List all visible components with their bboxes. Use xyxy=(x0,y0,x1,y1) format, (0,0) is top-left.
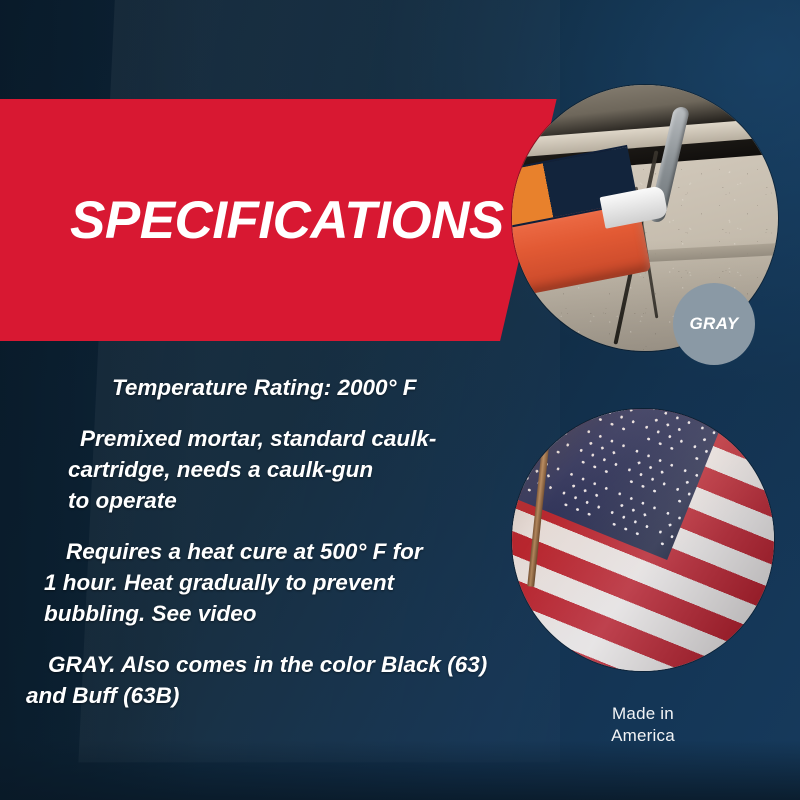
flag-body xyxy=(512,409,774,671)
spec-line: bubbling. See video xyxy=(50,598,520,629)
background-bottom-fade xyxy=(0,740,800,800)
spec-line: cartridge, needs a caulk-gun xyxy=(80,454,520,485)
spec-line: to operate xyxy=(80,485,520,516)
flag-shading xyxy=(512,409,774,671)
color-badge-label: GRAY xyxy=(689,314,738,334)
color-badge-gray: GRAY xyxy=(673,283,755,365)
caption-line: Made in xyxy=(563,703,723,725)
specifications-list: Temperature Rating: 2000° F Premixed mor… xyxy=(0,372,520,711)
page-title: SPECIFICATIONS xyxy=(70,194,504,247)
spec-line: GRAY. Also comes in the color Black (63) xyxy=(50,649,520,680)
caption-line: America xyxy=(563,725,723,747)
spec-color-options: GRAY. Also comes in the color Black (63)… xyxy=(0,649,520,711)
spec-line: Temperature Rating: 2000° F xyxy=(112,372,520,403)
specifications-banner: SPECIFICATIONS xyxy=(0,99,560,341)
made-in-america-caption: Made in America xyxy=(563,703,723,747)
spec-premixed-mortar: Premixed mortar, standard caulk- cartrid… xyxy=(0,423,520,516)
spec-line: Premixed mortar, standard caulk- xyxy=(92,423,520,454)
spec-line: and Buff (63B) xyxy=(28,680,520,711)
american-flag-photo xyxy=(512,409,774,671)
spec-line: 1 hour. Heat gradually to prevent xyxy=(50,567,520,598)
infographic-canvas: SPECIFICATIONS GRAY Tempera xyxy=(0,0,800,800)
spec-heat-cure: Requires a heat cure at 500° F for 1 hou… xyxy=(0,536,520,629)
spec-line: Requires a heat cure at 500° F for xyxy=(72,536,520,567)
spec-temperature-rating: Temperature Rating: 2000° F xyxy=(0,372,520,403)
